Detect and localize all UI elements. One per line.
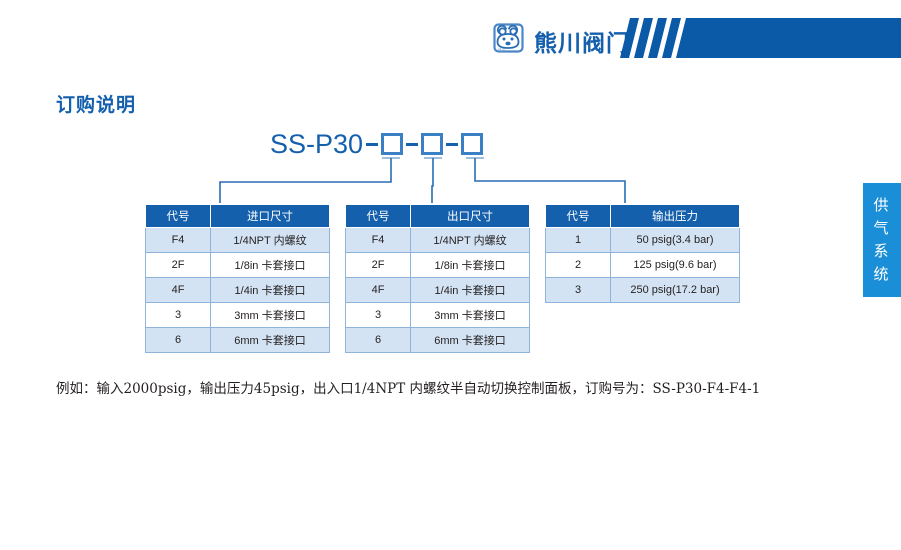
column-header-desc: 进口尺寸 — [211, 205, 330, 228]
cell-desc: 250 psig(17.2 bar) — [611, 278, 740, 303]
cell-desc: 6mm 卡套接口 — [211, 328, 330, 353]
table-row: 2 125 psig(9.6 bar) — [546, 253, 740, 278]
column-header-desc: 出口尺寸 — [411, 205, 530, 228]
cell-code: 4F — [146, 278, 211, 303]
cell-code: 2 — [546, 253, 611, 278]
part-number-dash-3 — [446, 143, 458, 146]
table-row: 1 50 psig(3.4 bar) — [546, 228, 740, 253]
side-tab-supply-system[interactable]: 供 气 系 统 — [863, 183, 901, 297]
cell-desc: 1/4in 卡套接口 — [211, 278, 330, 303]
side-tab-char-3: 系 — [873, 240, 890, 263]
column-header-code: 代号 — [146, 205, 211, 228]
part-number-dash-2 — [406, 143, 418, 146]
cell-code: 3 — [546, 278, 611, 303]
cell-code: 6 — [146, 328, 211, 353]
table-header-row: 代号 进口尺寸 — [146, 205, 330, 228]
cell-desc: 3mm 卡套接口 — [411, 303, 530, 328]
cell-desc: 1/8in 卡套接口 — [211, 253, 330, 278]
cell-code: 2F — [346, 253, 411, 278]
cell-desc: 6mm 卡套接口 — [411, 328, 530, 353]
part-number-dash-1 — [366, 143, 378, 146]
table-row: F4 1/4NPT 内螺纹 — [146, 228, 330, 253]
table-row: 4F 1/4in 卡套接口 — [346, 278, 530, 303]
part-number-diagram: SS-P30 — [270, 128, 483, 160]
cell-code: 6 — [346, 328, 411, 353]
brand-name: 熊川阀门 — [534, 24, 630, 58]
side-tab-char-4: 统 — [873, 263, 890, 286]
cell-code: 1 — [546, 228, 611, 253]
cell-code: 4F — [346, 278, 411, 303]
part-number-prefix: SS-P30 — [270, 131, 363, 158]
table-row: 3 3mm 卡套接口 — [346, 303, 530, 328]
table-outlet-size: 代号 出口尺寸 F4 1/4NPT 内螺纹 2F 1/8in 卡套接口 4F 1… — [345, 204, 530, 353]
table-row: 2F 1/8in 卡套接口 — [346, 253, 530, 278]
table-row: 4F 1/4in 卡套接口 — [146, 278, 330, 303]
table-row: 2F 1/8in 卡套接口 — [146, 253, 330, 278]
side-tab-char-1: 供 — [873, 194, 890, 217]
column-header-desc: 输出压力 — [611, 205, 740, 228]
table-row: 3 3mm 卡套接口 — [146, 303, 330, 328]
table-header-row: 代号 输出压力 — [546, 205, 740, 228]
cell-desc: 1/8in 卡套接口 — [411, 253, 530, 278]
table-inlet-size: 代号 进口尺寸 F4 1/4NPT 内螺纹 2F 1/8in 卡套接口 4F 1… — [145, 204, 330, 353]
page-title: 订购说明 — [56, 90, 136, 117]
table-header-row: 代号 出口尺寸 — [346, 205, 530, 228]
column-header-code: 代号 — [346, 205, 411, 228]
cell-code: 2F — [146, 253, 211, 278]
svg-text:熊川: 熊川 — [498, 47, 506, 52]
part-number-box-2 — [421, 133, 443, 155]
table-row: 3 250 psig(17.2 bar) — [546, 278, 740, 303]
cell-code: F4 — [346, 228, 411, 253]
part-number-box-1 — [381, 133, 403, 155]
part-number-box-3 — [461, 133, 483, 155]
cell-desc: 50 psig(3.4 bar) — [611, 228, 740, 253]
cell-code: 3 — [346, 303, 411, 328]
cell-desc: 1/4in 卡套接口 — [411, 278, 530, 303]
example-note: 例如：输入2000psig，输出压力45psig，出入口1/4NPT 内螺纹半自… — [56, 377, 760, 397]
cell-desc: 1/4NPT 内螺纹 — [211, 228, 330, 253]
table-output-pressure: 代号 输出压力 1 50 psig(3.4 bar) 2 125 psig(9.… — [545, 204, 740, 303]
cell-desc: 1/4NPT 内螺纹 — [411, 228, 530, 253]
cell-code: F4 — [146, 228, 211, 253]
table-row: 6 6mm 卡套接口 — [146, 328, 330, 353]
header-banner: 熊川 熊川阀门 — [0, 0, 901, 70]
table-row: 6 6mm 卡套接口 — [346, 328, 530, 353]
cell-desc: 3mm 卡套接口 — [211, 303, 330, 328]
cell-code: 3 — [146, 303, 211, 328]
banner-stripes-graphic — [620, 18, 901, 63]
cell-desc: 125 psig(9.6 bar) — [611, 253, 740, 278]
table-row: F4 1/4NPT 内螺纹 — [346, 228, 530, 253]
column-header-code: 代号 — [546, 205, 611, 228]
side-tab-char-2: 气 — [873, 217, 890, 240]
bear-head-logo-icon: 熊川 — [492, 22, 530, 56]
